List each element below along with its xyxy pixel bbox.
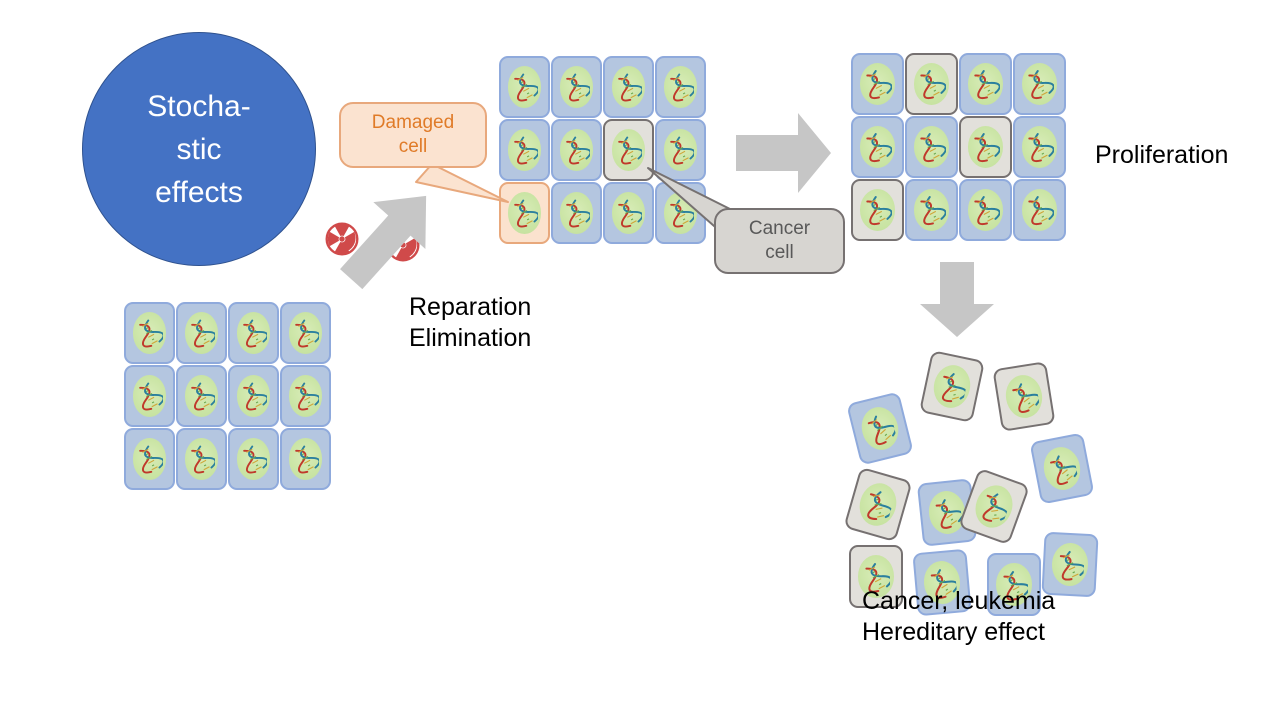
cancer-cell-callout-tail bbox=[0, 0, 1280, 720]
damaged-cell-callout: Damaged cell bbox=[339, 102, 487, 168]
cancer-cell-callout-label: Cancer cell bbox=[749, 217, 810, 265]
damaged-cell-callout-label: Damaged cell bbox=[372, 111, 454, 159]
diagram-canvas: Stocha- stic effects bbox=[0, 0, 1280, 720]
cancer-cell-callout: Cancer cell bbox=[714, 208, 845, 274]
